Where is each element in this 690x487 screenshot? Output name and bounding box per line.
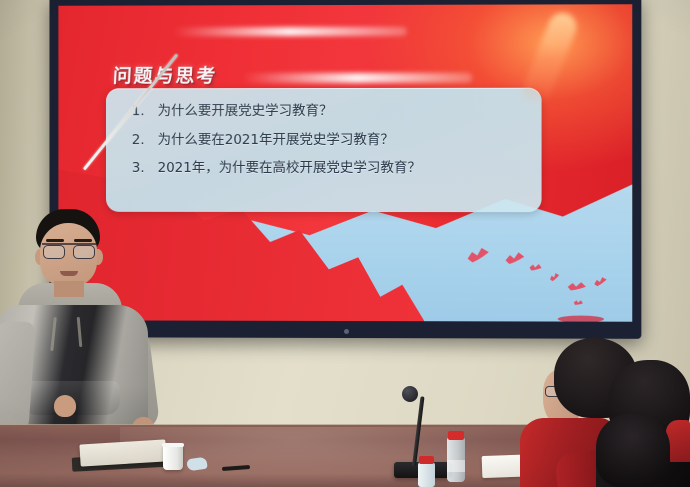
presenter-eyebrow xyxy=(46,239,64,242)
list-text: 2021年，为什要在高校开展党史学习教育？ xyxy=(158,161,421,177)
slide-list-item: 2. 为什么要在2021年开展党史学习教育？ xyxy=(132,132,524,148)
screen-glare xyxy=(242,73,472,83)
sensor-icon xyxy=(344,329,349,334)
presenter-mouth xyxy=(60,271,78,276)
presenter-hand-holding-pointer xyxy=(54,395,76,417)
list-text: 为什么要在2021年开展党史学习教育？ xyxy=(158,132,394,148)
lecture-room-scene: 问题与思考 1. 为什么要开展党史学习教育？ 2. 为什么要在2021年开展党史… xyxy=(0,0,690,487)
eyeglasses-icon xyxy=(42,243,96,257)
presenter-eyebrow xyxy=(74,239,92,242)
screen-glare xyxy=(173,27,408,37)
paper-cup-rim xyxy=(162,443,184,447)
lens-left xyxy=(43,245,65,259)
list-text: 为什么要开展党史学习教育？ xyxy=(158,104,333,120)
slide-list-item: 1. 为什么要开展党史学习教育？ xyxy=(132,104,524,120)
list-number: 3. xyxy=(132,161,149,176)
presenter-neck xyxy=(54,281,84,297)
bottle-cap xyxy=(448,431,464,440)
bottle-cap xyxy=(419,456,434,464)
attendee-front xyxy=(596,414,670,487)
slide-list-item: 3. 2021年，为什要在高校开展党史学习教育？ xyxy=(132,161,524,177)
slide-content-panel: 1. 为什么要开展党史学习教育？ 2. 为什么要在2021年开展党史学习教育？ … xyxy=(106,88,542,212)
bottle-label xyxy=(447,460,465,472)
paper-cup xyxy=(163,444,183,470)
list-number: 2. xyxy=(132,133,149,148)
water-bottle xyxy=(418,462,435,487)
microphone-capsule-icon xyxy=(402,386,418,402)
lens-right xyxy=(73,245,95,259)
